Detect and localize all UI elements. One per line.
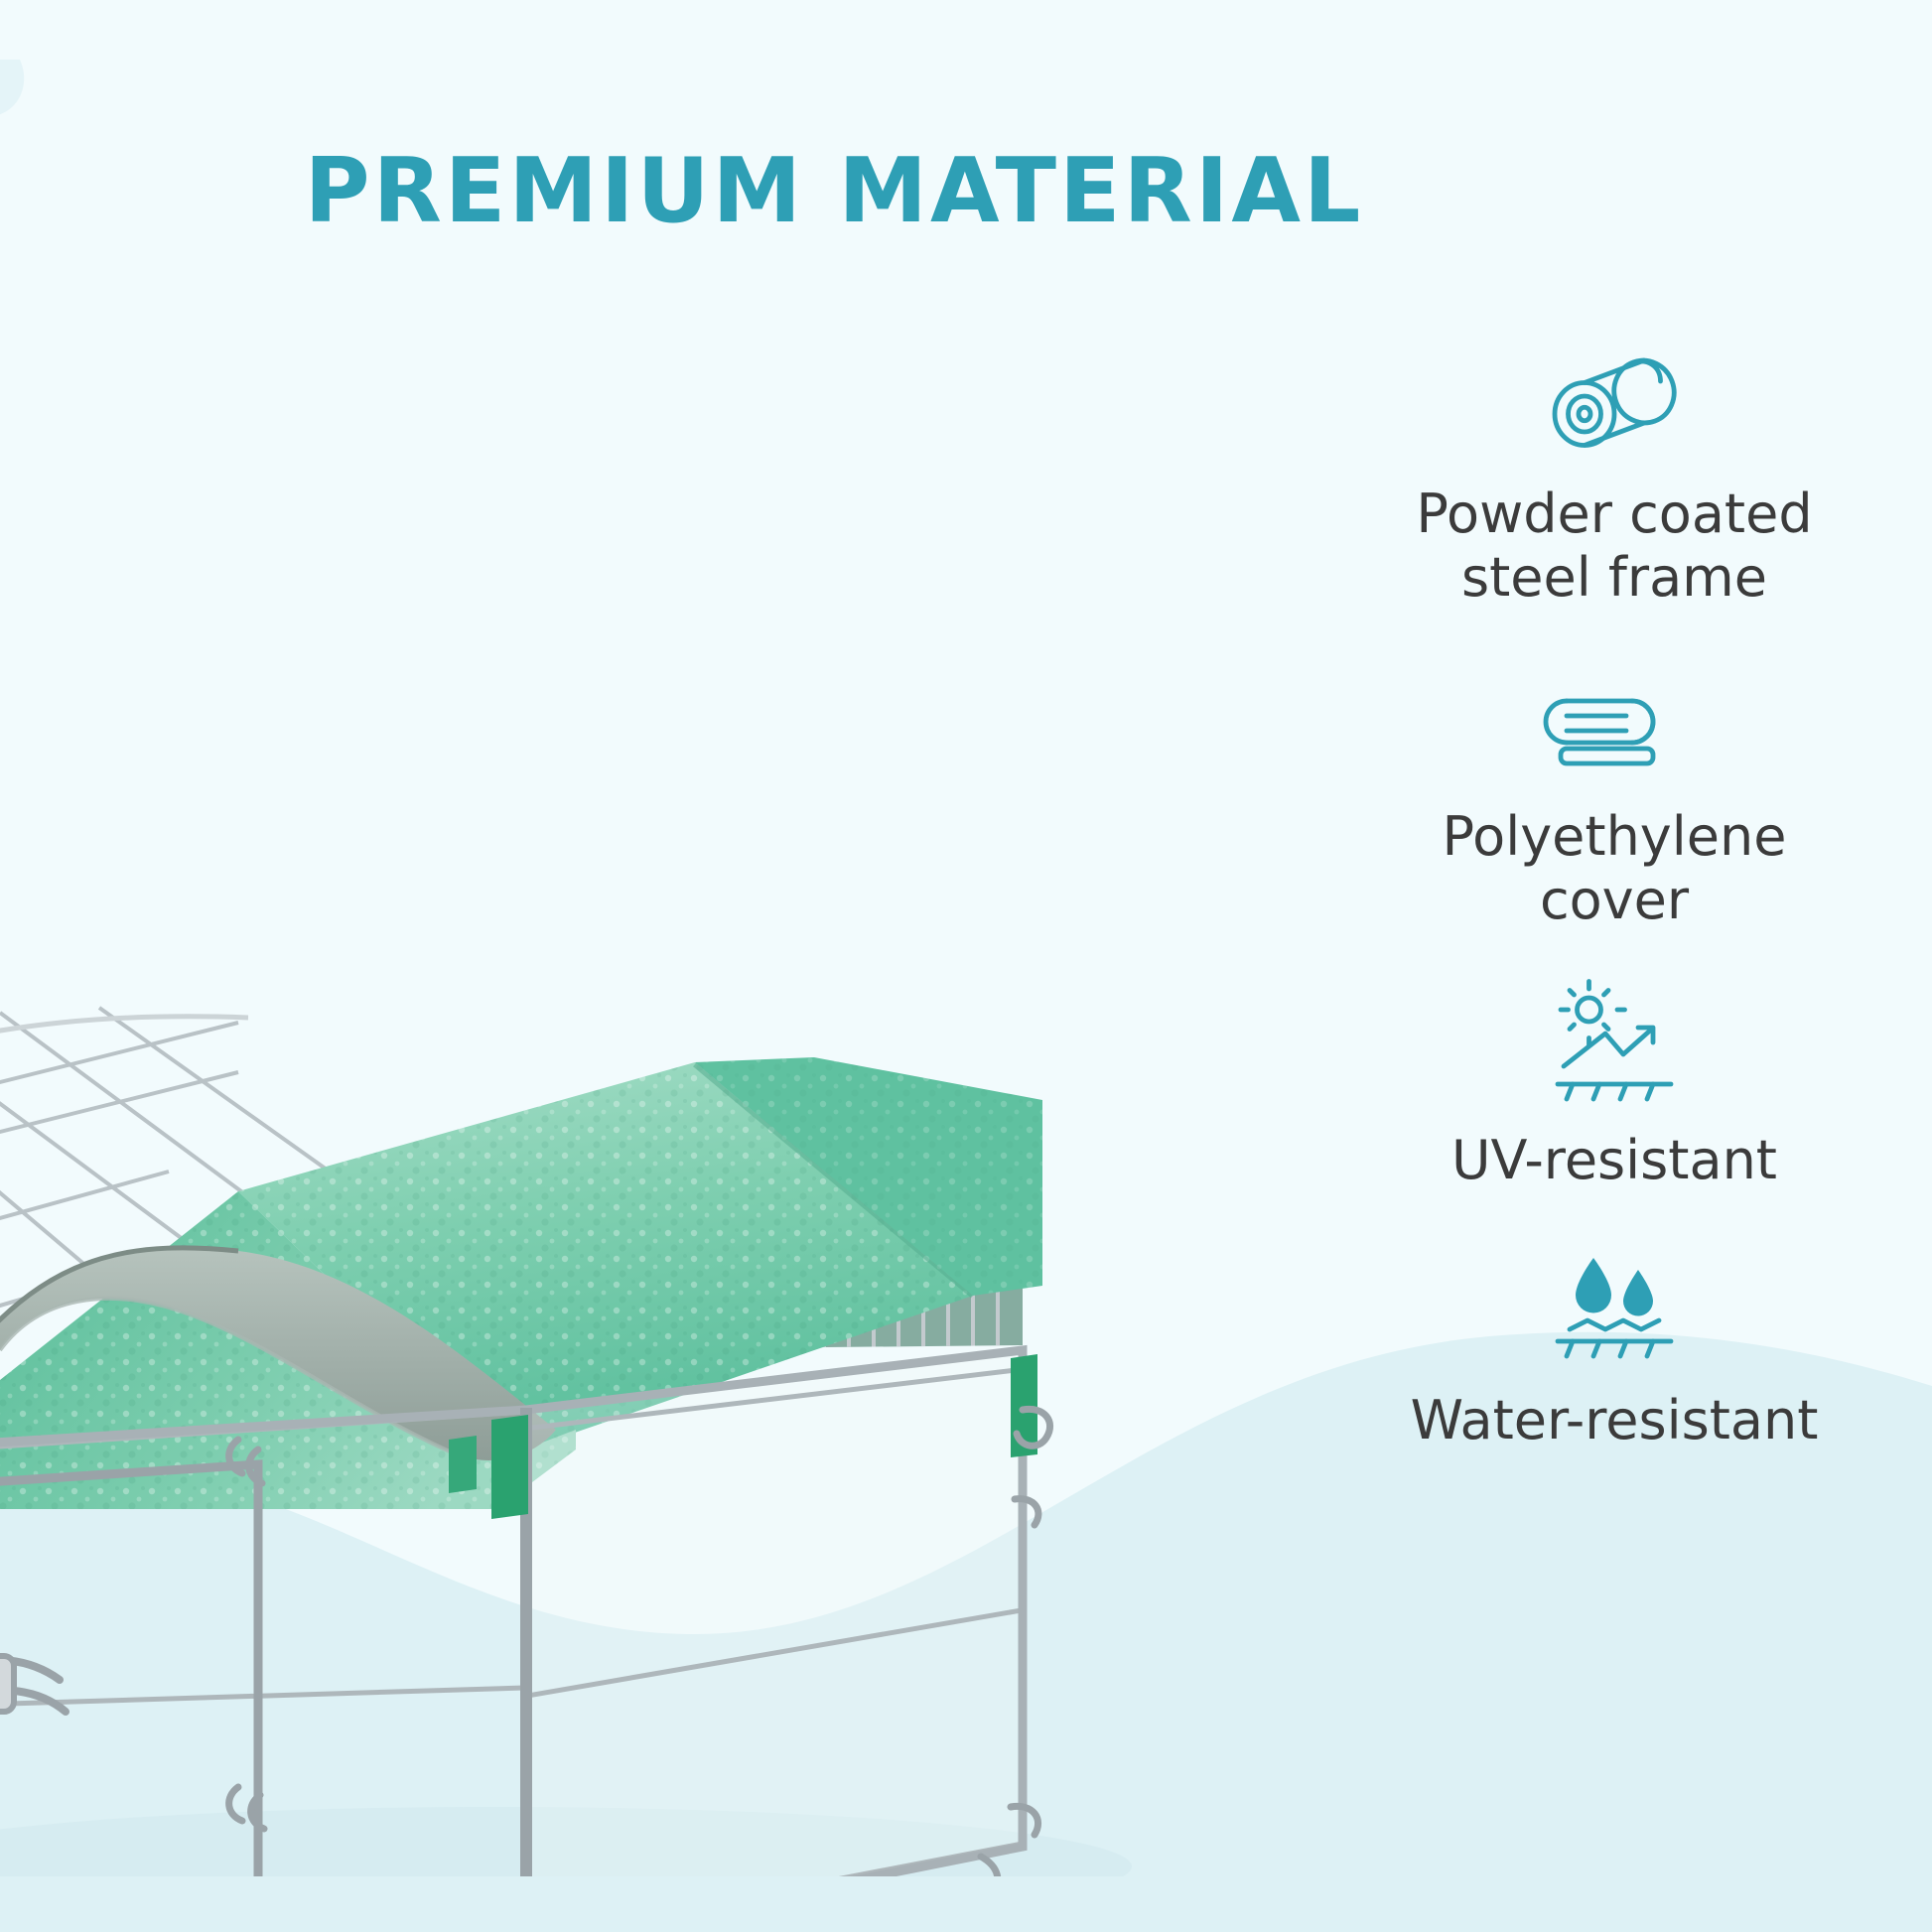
feature-label: Powder coated steel frame (1416, 483, 1812, 609)
feature-item-powder-coated-steel-frame: Powder coated steel frame (1336, 328, 1892, 609)
infographic-stage: PREMIUM MATERIAL Powder coated steel fra… (0, 0, 1932, 1932)
feature-label-line2: cover (1540, 869, 1689, 931)
product-image (0, 556, 1430, 1876)
water-drops-icon (1540, 1234, 1689, 1383)
feature-label-line2: steel frame (1461, 546, 1767, 609)
feature-label: Water-resistant (1411, 1389, 1819, 1452)
feature-item-uv-resistant: UV-resistant (1336, 974, 1892, 1192)
feature-item-polyethylene-cover: Polyethylene cover (1336, 650, 1892, 931)
feature-label-line1: Powder coated (1416, 483, 1812, 545)
sun-uv-icon (1540, 974, 1689, 1123)
feature-label: Polyethylene cover (1443, 805, 1787, 931)
fabric-roll-icon (1540, 328, 1689, 477)
feature-label-line1: Polyethylene (1443, 805, 1787, 868)
feature-list: Powder coated steel frame Polyethylene c… (1336, 328, 1892, 1493)
feature-label-line1: Water-resistant (1411, 1389, 1819, 1451)
feature-label: UV-resistant (1451, 1129, 1777, 1192)
feature-item-water-resistant: Water-resistant (1336, 1234, 1892, 1452)
page-title: PREMIUM MATERIAL (0, 139, 1668, 243)
folded-fabric-icon (1540, 650, 1689, 799)
feature-label-line1: UV-resistant (1451, 1129, 1777, 1191)
